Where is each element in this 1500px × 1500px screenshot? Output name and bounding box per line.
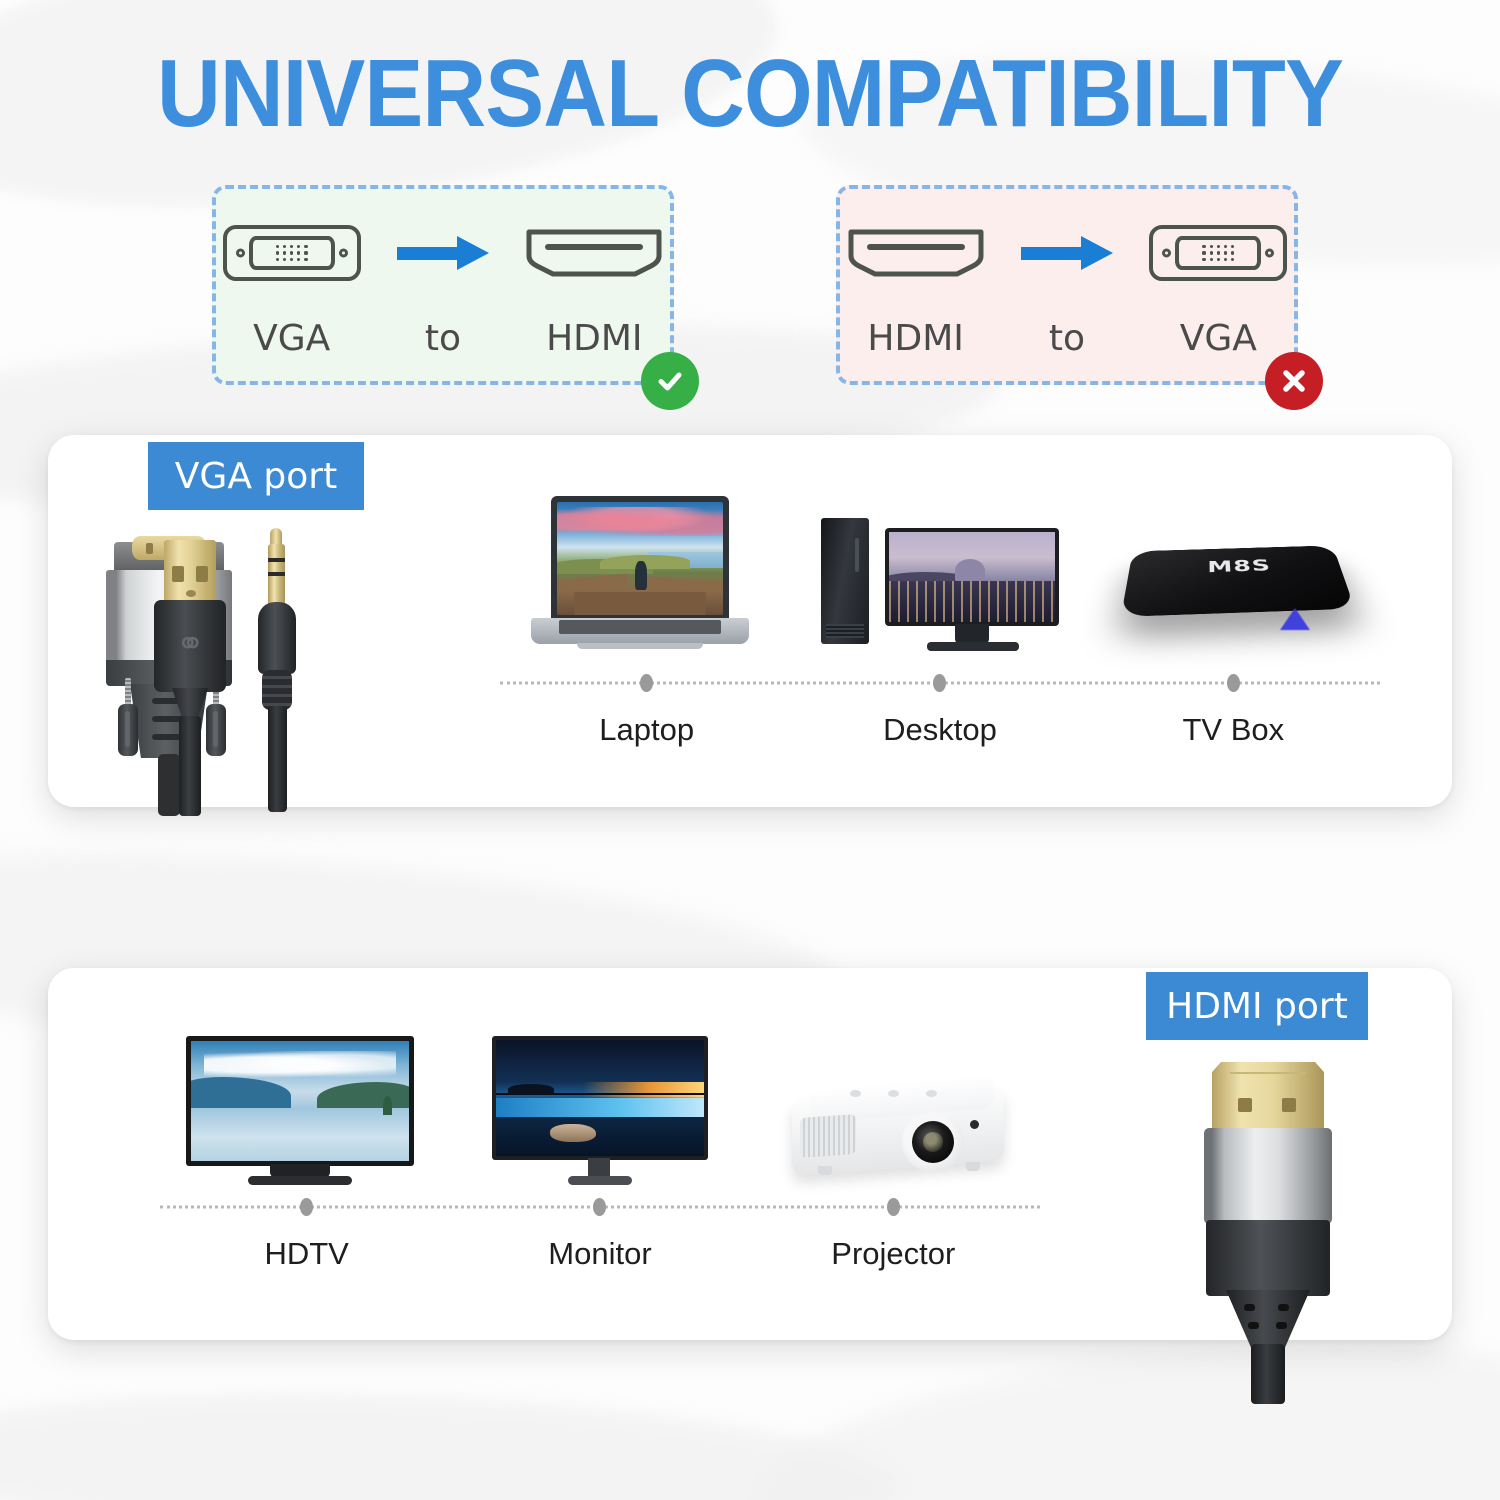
device-label-monitor: Monitor <box>453 1236 746 1272</box>
hdmi-cable-image <box>1196 1062 1346 1362</box>
connector-icon-row <box>840 207 1294 299</box>
device-label-laptop: Laptop <box>500 712 793 748</box>
page-title: UNIVERSAL COMPATIBILITY <box>60 46 1440 142</box>
hdmi-strain-relief <box>1226 1290 1310 1348</box>
audio-jack-image <box>244 528 316 810</box>
background-swoosh <box>0 1378 902 1500</box>
tv-box-brand-label: M8S <box>1204 556 1275 574</box>
hdmi-device-label-row: HDTV Monitor Projector <box>160 1236 1040 1272</box>
vga-connector-icon <box>1149 225 1287 281</box>
connector-label-row: HDMI to VGA <box>840 311 1294 365</box>
jack-barrel <box>258 602 296 674</box>
compatibility-box-supported: VGA to HDMI <box>212 185 674 385</box>
vga-pin-housing-icon <box>249 236 335 270</box>
arrow-right-icon <box>368 236 518 270</box>
line-marker-dot <box>1227 674 1240 692</box>
line-marker-dot <box>593 1198 606 1216</box>
connector-icon-row <box>216 207 670 299</box>
device-label-tv-box: TV Box <box>1087 712 1380 748</box>
hdmi-cable-cord <box>1251 1344 1285 1404</box>
vga-device-row: M8S <box>490 466 1390 656</box>
jack-cable-cord <box>268 706 287 812</box>
arrow-right-icon <box>992 236 1142 270</box>
device-monitor <box>450 1026 750 1192</box>
vga-connector-dotted-line <box>500 672 1380 694</box>
hdtv-icon <box>186 1036 414 1192</box>
usb-cable-cord <box>179 716 201 816</box>
hdmi-connector-dotted-line <box>160 1196 1040 1218</box>
vga-pin-housing-icon <box>1175 236 1261 270</box>
line-marker-dot <box>933 674 946 692</box>
device-tv-box: M8S <box>1090 466 1390 656</box>
usb-trident-icon: ⚭ <box>176 622 202 670</box>
to-label: VGA <box>1143 318 1293 359</box>
to-connector-slot <box>519 226 669 280</box>
hdmi-device-row <box>150 1026 1050 1192</box>
infographic-canvas: UNIVERSAL COMPATIBILITY <box>0 0 1500 1500</box>
usb-metal-tip <box>164 540 216 604</box>
connector-word: to <box>368 318 518 359</box>
vga-screw-hole-icon <box>1265 249 1274 258</box>
jack-insulator-ring <box>268 572 285 576</box>
compatibility-box-unsupported: HDMI to VGA <box>836 185 1298 385</box>
laptop-icon <box>529 496 751 656</box>
from-label: HDMI <box>841 318 991 359</box>
from-connector-slot <box>217 225 367 281</box>
connector-label-row: VGA to HDMI <box>216 311 670 365</box>
tv-box-led-indicator <box>1280 608 1310 630</box>
device-label-projector: Projector <box>747 1236 1040 1272</box>
hdmi-aluminum-housing <box>1204 1128 1332 1224</box>
from-label: VGA <box>217 318 367 359</box>
device-label-hdtv: HDTV <box>160 1236 453 1272</box>
hdmi-plug-body <box>1206 1220 1330 1296</box>
monitor-icon <box>492 1036 708 1192</box>
device-laptop <box>490 466 790 656</box>
projector-icon <box>784 1070 1016 1192</box>
check-circle-icon <box>641 352 699 410</box>
tv-box-icon: M8S <box>1120 516 1360 656</box>
line-marker-dot <box>640 674 653 692</box>
hdmi-connector-icon <box>523 226 665 280</box>
device-hdtv <box>150 1026 450 1192</box>
x-circle-icon <box>1265 352 1323 410</box>
to-connector-slot <box>1143 225 1293 281</box>
vga-port-tag: VGA port <box>148 442 364 510</box>
line-marker-dot <box>300 1198 313 1216</box>
device-projector <box>750 1026 1050 1192</box>
vga-thumbscrew <box>118 678 138 756</box>
line-marker-dot <box>887 1198 900 1216</box>
vga-screw-hole-icon <box>1162 249 1171 258</box>
device-label-desktop: Desktop <box>793 712 1086 748</box>
hdmi-gold-contacts <box>1212 1062 1324 1134</box>
device-desktop <box>790 466 1090 656</box>
jack-insulator-ring <box>268 558 285 562</box>
jack-strain-relief <box>262 670 292 710</box>
hdmi-port-tag: HDMI port <box>1146 972 1368 1040</box>
to-label: HDMI <box>519 318 669 359</box>
usb-connector-image: ⚭ <box>150 530 230 810</box>
vga-screw-hole-icon <box>236 249 245 258</box>
desktop-computer-icon <box>815 506 1065 656</box>
hdmi-connector-icon <box>845 226 987 280</box>
vga-screw-hole-icon <box>339 249 348 258</box>
from-connector-slot <box>841 226 991 280</box>
vga-connector-icon <box>223 225 361 281</box>
connector-word: to <box>992 318 1142 359</box>
vga-device-label-row: Laptop Desktop TV Box <box>500 712 1380 748</box>
